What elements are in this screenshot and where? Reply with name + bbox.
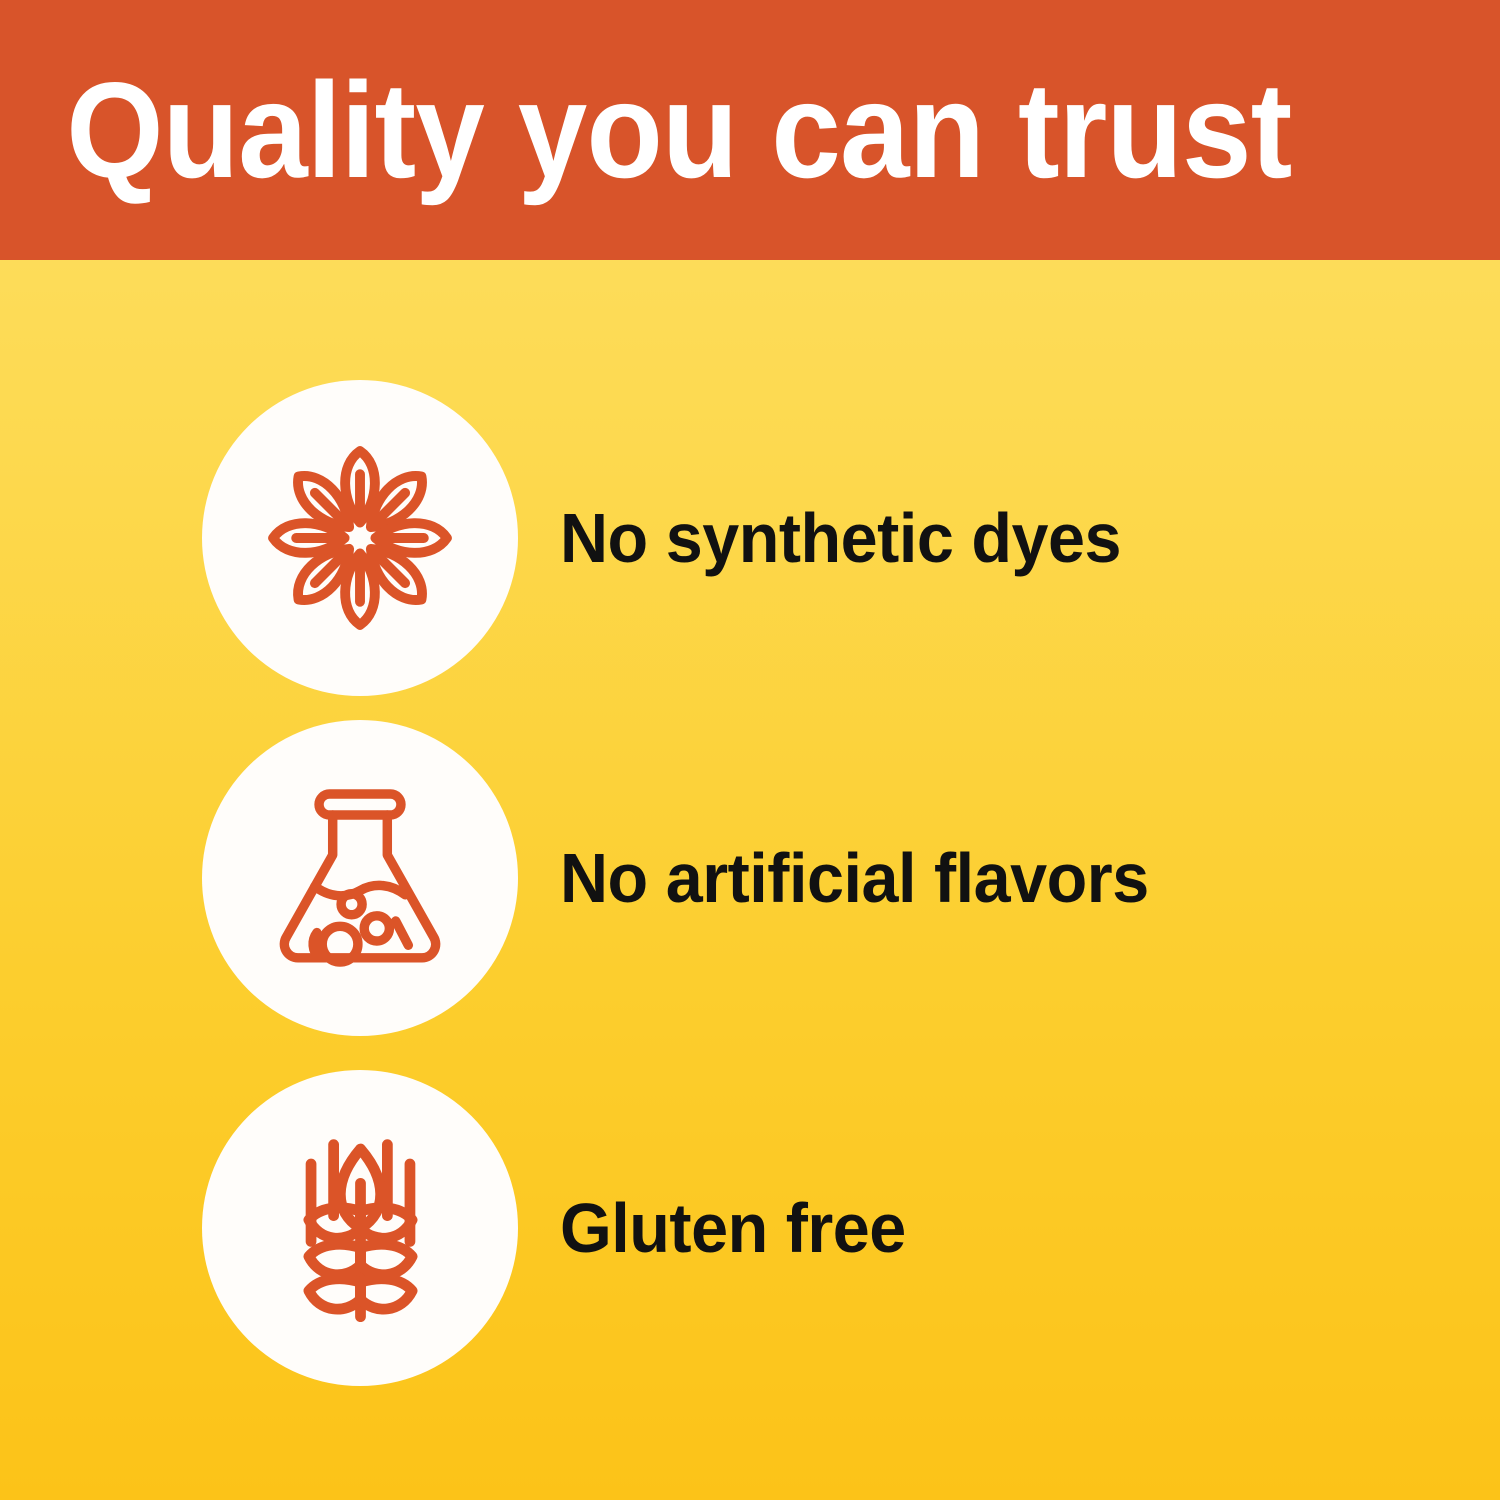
wheat-stalk-icon [253, 1121, 468, 1336]
icon-badge [202, 720, 518, 1036]
page-title: Quality you can trust [0, 62, 1291, 198]
header-band: Quality you can trust [0, 0, 1500, 260]
feature-label: Gluten free [560, 1193, 906, 1263]
icon-badge [202, 1070, 518, 1386]
flower-petals-icon [250, 428, 470, 648]
quality-claims-poster: Quality you can trust [0, 0, 1500, 1500]
erlenmeyer-flask-icon [255, 773, 465, 983]
feature-label: No artificial flavors [560, 843, 1149, 913]
feature-row: Gluten free [0, 1058, 1500, 1398]
feature-label: No synthetic dyes [560, 503, 1121, 573]
feature-row: No artificial flavors [0, 708, 1500, 1048]
icon-badge [202, 380, 518, 696]
feature-row: No synthetic dyes [0, 368, 1500, 708]
feature-list: No synthetic dyes [0, 260, 1500, 1500]
